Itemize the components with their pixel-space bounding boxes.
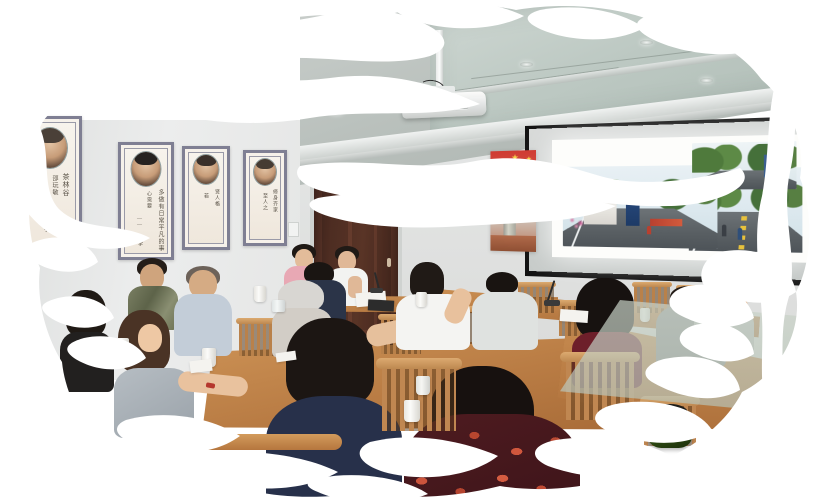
flag-star-icon: ★ [497, 157, 507, 169]
wall-poster-2: 多做有日常平凡的事 心需要 —— 科学 [118, 142, 174, 260]
paper-cup [116, 338, 129, 356]
portrait-photo [253, 158, 277, 186]
paper-cup [416, 292, 427, 307]
flag-poster: ★ ★ ★ ★ ★ [490, 150, 536, 252]
projected-slide [552, 134, 811, 263]
portrait-photo [32, 127, 68, 169]
document-paper [560, 309, 589, 323]
backpack-flap [652, 404, 688, 422]
wall-poster-3: 贤人格 若 [182, 146, 230, 250]
photo-layer: ★ ★ ★ ★ ★ 茶林谷 邵玩敏 —— 孔子 多做有日常平凡的事 [0, 0, 816, 500]
flag-star-icon: ★ [511, 154, 519, 163]
meeting-room-photo: ★ ★ ★ ★ ★ 茶林谷 邵玩敏 —— 孔子 多做有日常平凡的事 [0, 0, 816, 500]
speaker-bracket [388, 180, 398, 186]
tablet-device [368, 299, 395, 311]
poster-text-sub: 至人之 [261, 193, 268, 211]
poster-text-sub: 若 [202, 193, 209, 199]
downlight-icon [700, 78, 713, 83]
flag-star-icon: ★ [518, 164, 524, 171]
portrait-photo [193, 154, 220, 185]
poster-text-main: 贤人格 [213, 189, 220, 207]
poster-ground [490, 235, 536, 252]
projector-lens-icon [470, 97, 487, 113]
poster-text-sub: 心需要 [145, 191, 152, 209]
flag-star-icon: ★ [526, 156, 532, 163]
microphone-base [544, 300, 560, 306]
flag-star-icon: ★ [529, 175, 534, 181]
poster-attribution: —— 孔子 [42, 203, 49, 233]
downlight-icon [640, 40, 653, 45]
water-glass [416, 376, 430, 395]
projector-vent [455, 100, 468, 111]
slide-photo-inset [692, 141, 796, 189]
poster-text-sub: 邵玩敏 [50, 175, 59, 196]
poster-attribution: —— 科学 [136, 217, 143, 247]
paper-cup [254, 286, 266, 302]
portrait-photo [131, 151, 162, 187]
water-glass [272, 300, 285, 312]
wall-poster-4: 修身齐家 至人之 [243, 150, 287, 246]
poster-text-main: 多做有日常平凡的事 [156, 189, 165, 252]
door-knob[interactable] [387, 258, 391, 267]
downlight-icon [330, 110, 343, 115]
microphone-base [370, 288, 383, 293]
downlight-icon [520, 62, 533, 67]
downlight-icon [790, 20, 803, 25]
light-switch[interactable] [288, 222, 299, 237]
paper-cup [404, 400, 420, 422]
wall-poster-1: 茶林谷 邵玩敏 —— 孔子 [18, 116, 82, 254]
poster-text-main: 茶林谷 [61, 173, 71, 197]
poster-text-main: 修身齐家 [271, 189, 278, 213]
